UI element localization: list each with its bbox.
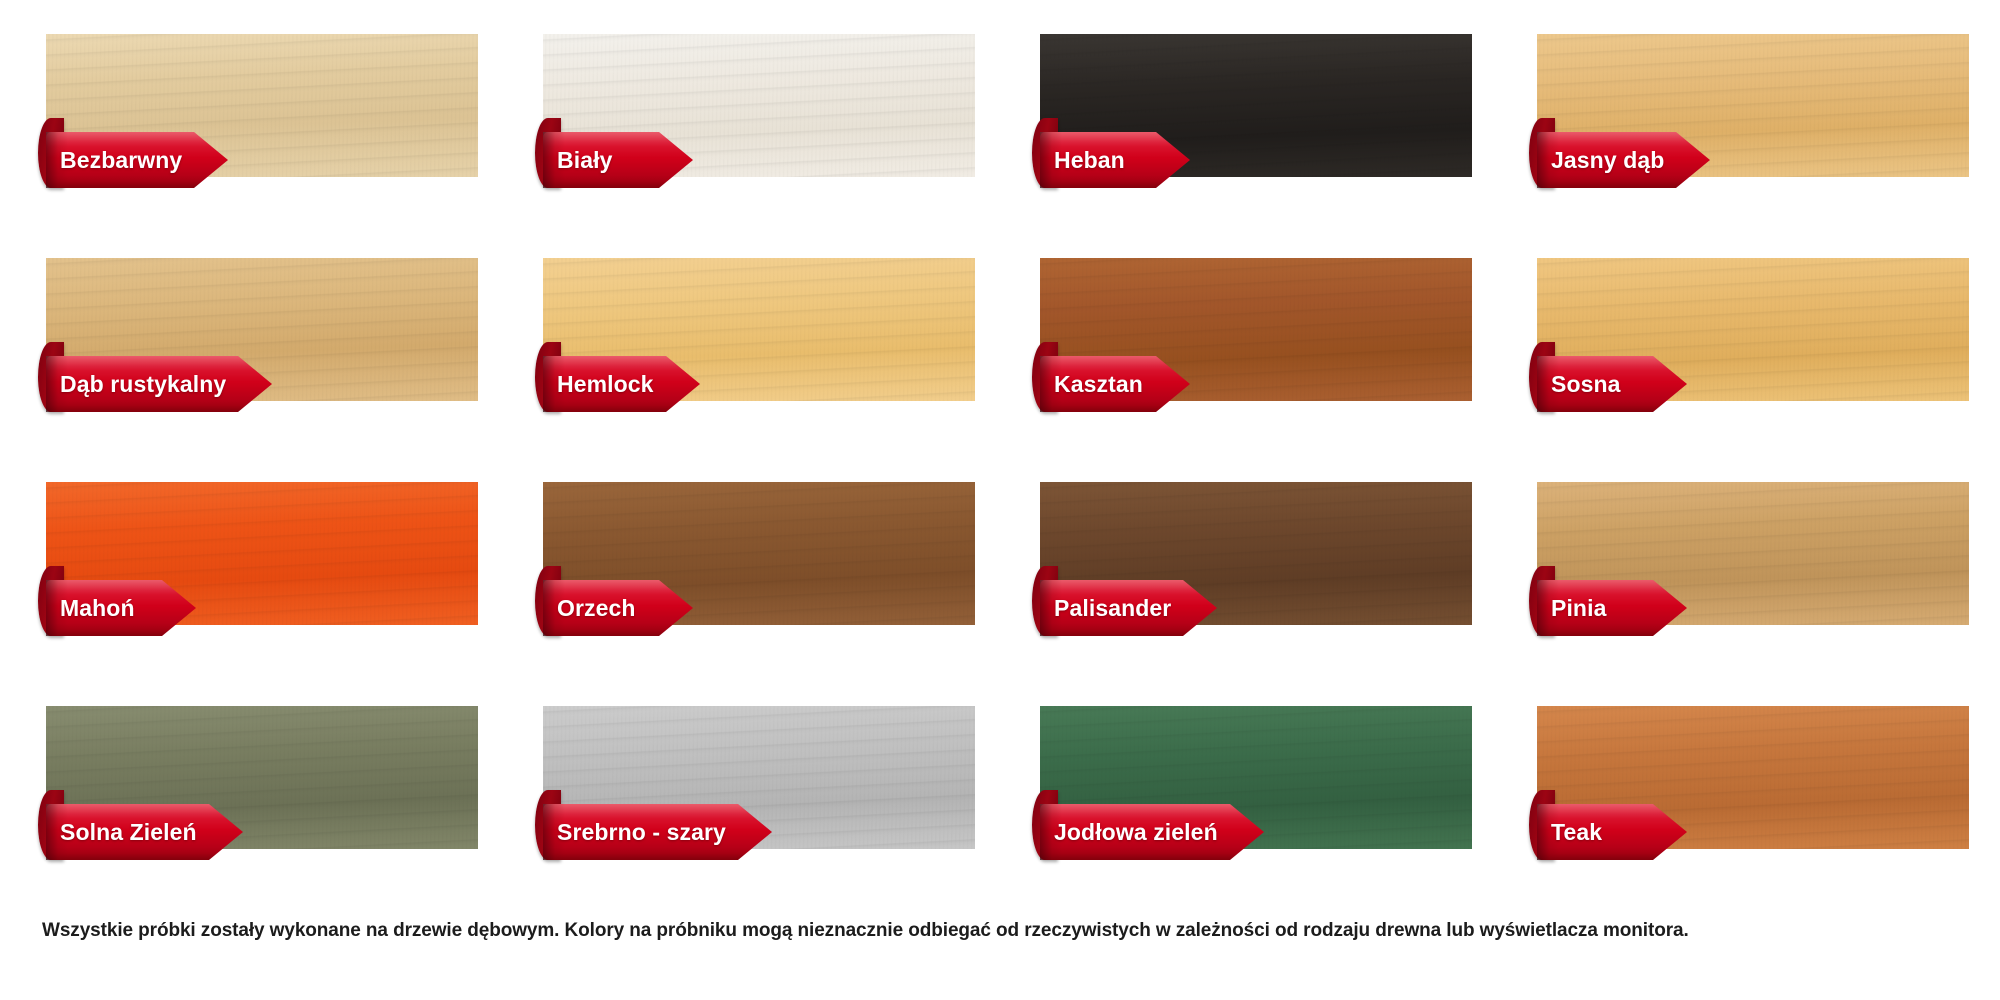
ribbon-band — [543, 804, 772, 860]
ribbon-band — [46, 804, 243, 860]
swatch-card[interactable]: Hemlock — [535, 258, 975, 442]
color-name-ribbon: Orzech — [535, 580, 693, 636]
ribbon-band — [46, 580, 196, 636]
swatch-card[interactable]: Jodłowa zieleń — [1032, 706, 1472, 890]
swatch-card[interactable]: Mahoń — [38, 482, 478, 666]
ribbon-band — [1040, 132, 1190, 188]
ribbon-band — [46, 356, 272, 412]
swatch-card[interactable]: Bezbarwny — [38, 34, 478, 218]
ribbon-band — [1537, 356, 1687, 412]
swatch-card[interactable]: Biały — [535, 34, 975, 218]
color-name-ribbon: Dąb rustykalny — [38, 356, 272, 412]
ribbon-band — [543, 580, 693, 636]
ribbon-band — [1537, 804, 1687, 860]
swatch-card[interactable]: Heban — [1032, 34, 1472, 218]
color-name-ribbon: Jodłowa zieleń — [1032, 804, 1264, 860]
color-name-ribbon: Kasztan — [1032, 356, 1190, 412]
ribbon-band — [1537, 132, 1710, 188]
color-name-ribbon: Pinia — [1529, 580, 1687, 636]
color-name-ribbon: Mahoń — [38, 580, 196, 636]
color-name-ribbon: Biały — [535, 132, 693, 188]
color-name-ribbon: Heban — [1032, 132, 1190, 188]
footnote-text: Wszystkie próbki zostały wykonane na drz… — [42, 920, 1942, 942]
swatch-card[interactable]: Teak — [1529, 706, 1969, 890]
color-name-ribbon: Teak — [1529, 804, 1687, 860]
swatch-card[interactable]: Dąb rustykalny — [38, 258, 478, 442]
color-name-ribbon: Jasny dąb — [1529, 132, 1710, 188]
color-name-ribbon: Sosna — [1529, 356, 1687, 412]
swatch-card[interactable]: Palisander — [1032, 482, 1472, 666]
color-name-ribbon: Bezbarwny — [38, 132, 228, 188]
swatch-card[interactable]: Solna Zieleń — [38, 706, 478, 890]
ribbon-band — [1040, 356, 1190, 412]
color-sampler-board: BezbarwnyBiałyHebanJasny dąbDąb rustykal… — [0, 0, 2000, 1000]
color-name-ribbon: Solna Zieleń — [38, 804, 243, 860]
swatch-card[interactable]: Orzech — [535, 482, 975, 666]
ribbon-band — [1040, 580, 1217, 636]
ribbon-band — [1537, 580, 1687, 636]
color-name-ribbon: Hemlock — [535, 356, 700, 412]
color-name-ribbon: Srebrno - szary — [535, 804, 772, 860]
swatch-card[interactable]: Jasny dąb — [1529, 34, 1969, 218]
ribbon-band — [46, 132, 228, 188]
swatch-card[interactable]: Srebrno - szary — [535, 706, 975, 890]
swatch-card[interactable]: Kasztan — [1032, 258, 1472, 442]
swatch-card[interactable]: Sosna — [1529, 258, 1969, 442]
ribbon-band — [1040, 804, 1264, 860]
color-name-ribbon: Palisander — [1032, 580, 1217, 636]
ribbon-band — [543, 132, 693, 188]
swatch-grid: BezbarwnyBiałyHebanJasny dąbDąb rustykal… — [38, 34, 1968, 890]
swatch-card[interactable]: Pinia — [1529, 482, 1969, 666]
ribbon-band — [543, 356, 700, 412]
